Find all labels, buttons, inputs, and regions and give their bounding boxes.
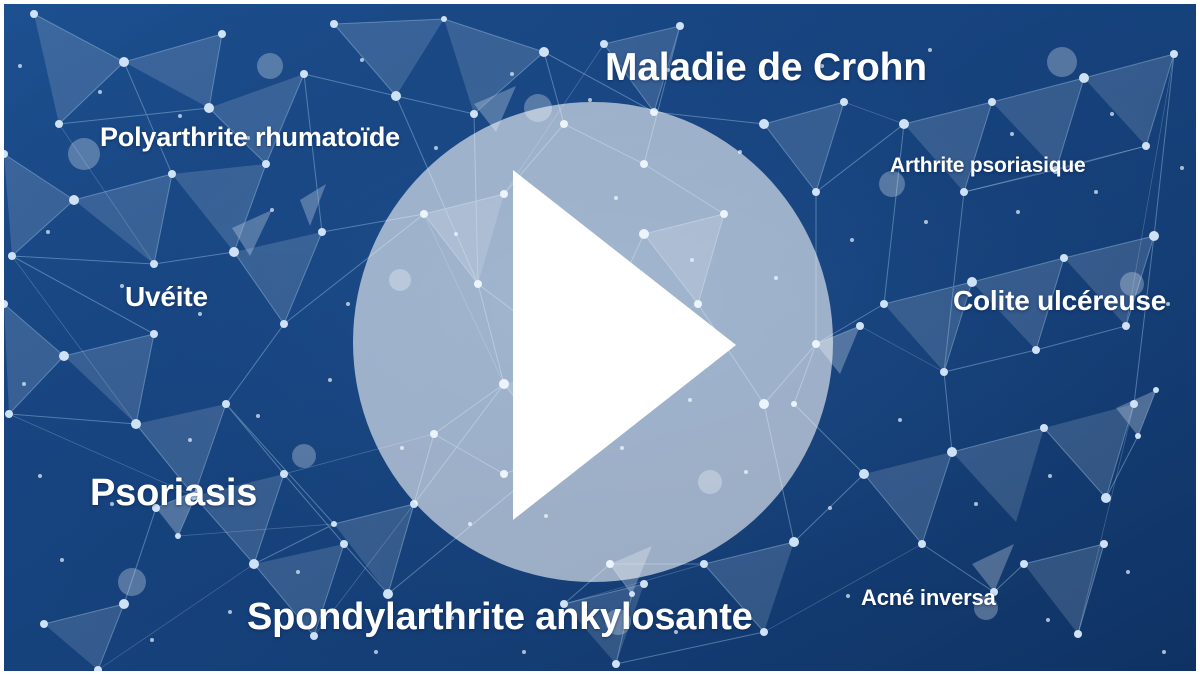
play-button[interactable] <box>353 102 833 582</box>
play-triangle-icon <box>513 170 736 520</box>
label-psoriasis: Psoriasis <box>90 472 257 515</box>
label-acne-inversa: Acné inversa <box>861 585 996 611</box>
label-maladie-de-crohn: Maladie de Crohn <box>605 46 927 90</box>
label-colite-ulcereuse: Colite ulcéreuse <box>953 285 1166 317</box>
label-arthrite-psoriasique: Arthrite psoriasique <box>890 154 1086 178</box>
label-polyarthrite-rhumatoide: Polyarthrite rhumatoïde <box>100 122 400 153</box>
label-uveite: Uvéite <box>125 281 208 313</box>
video-poster[interactable]: Maladie de Crohn Polyarthrite rhumatoïde… <box>4 4 1196 671</box>
label-spondylarthrite-ankylosante: Spondylarthrite ankylosante <box>247 596 753 639</box>
screenshot-root: Maladie de Crohn Polyarthrite rhumatoïde… <box>0 0 1200 675</box>
